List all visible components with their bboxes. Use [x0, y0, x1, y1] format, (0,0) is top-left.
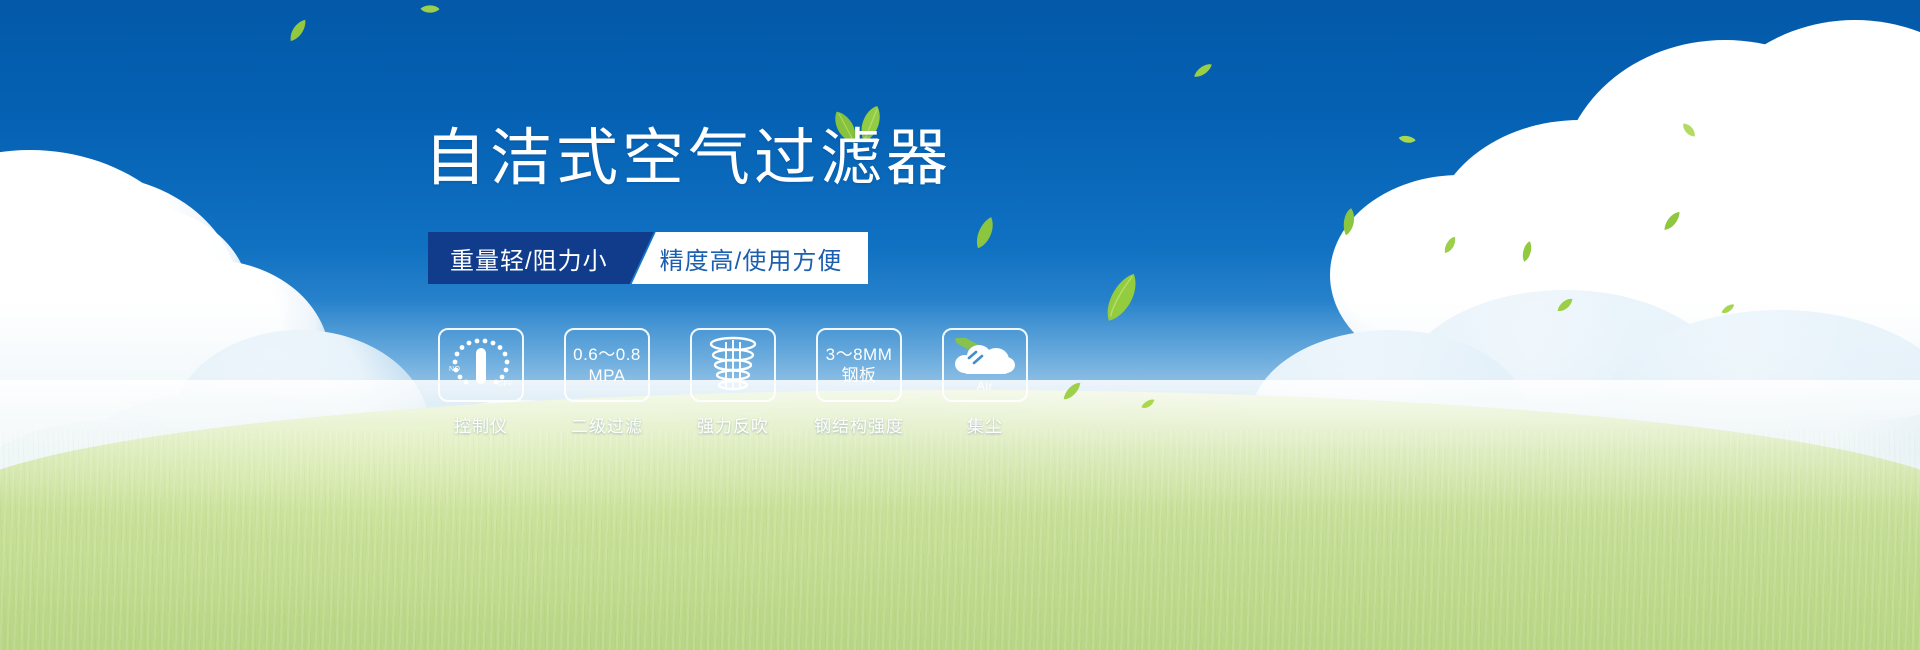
page-title: 自洁式空气过滤器	[424, 128, 952, 190]
pressure-text-icon: 0.6～0.8 MPA	[573, 344, 641, 386]
feature-label: 控制仪	[454, 412, 508, 437]
feature-label: 钢结构强度	[814, 412, 904, 437]
feature-icon-box: NO OFF	[438, 328, 524, 402]
feature-icon-row: NO OFF 控制仪 0.6～0.8 MPA 二级过滤	[438, 328, 1028, 437]
steel-plate-text-icon: 3～8MM 钢板	[826, 344, 893, 386]
feature-icon-box	[690, 328, 776, 402]
feature-label: 强力反吹	[697, 412, 769, 437]
feature-item[interactable]: Air 集尘	[942, 328, 1028, 437]
air-label: Air	[944, 379, 1026, 393]
tagline-tabs: 重量轻/阻力小 精度高/使用方便	[428, 232, 868, 284]
dial-label-on: NO	[449, 366, 461, 373]
feature-label: 二级过滤	[571, 412, 643, 437]
dial-label-off: OFF	[498, 381, 514, 388]
feature-icon-box: 3～8MM 钢板	[816, 328, 902, 402]
feature-label: 集尘	[967, 412, 1003, 437]
feature-item[interactable]: 0.6～0.8 MPA 二级过滤	[564, 328, 650, 437]
feature-item[interactable]: 强力反吹	[690, 328, 776, 437]
product-hero-banner: 自洁式空气过滤器 重量轻/阻力小 精度高/使用方便	[0, 0, 1920, 650]
cloud-air-icon	[952, 338, 1018, 384]
filter-cartridge-icon	[702, 336, 764, 394]
feature-item[interactable]: 3～8MM 钢板 钢结构强度	[816, 328, 902, 437]
banner-content: 自洁式空气过滤器 重量轻/阻力小 精度高/使用方便	[0, 0, 1920, 650]
feature-icon-box: Air	[942, 328, 1028, 402]
feature-icon-box: 0.6～0.8 MPA	[564, 328, 650, 402]
feature-item[interactable]: NO OFF 控制仪	[438, 328, 524, 437]
tagline-tab-primary[interactable]: 重量轻/阻力小	[428, 232, 654, 284]
tagline-tab-secondary[interactable]: 精度高/使用方便	[632, 232, 869, 284]
